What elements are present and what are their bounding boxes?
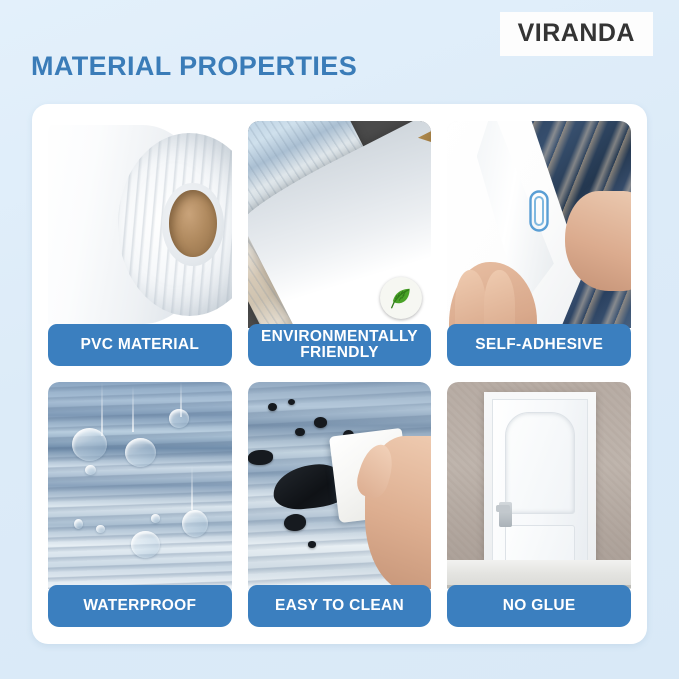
feature-label-pvc-material: PVC MATERIAL [48, 324, 232, 366]
water-drop-7 [74, 519, 83, 529]
brand-name: VIRANDA [518, 21, 635, 46]
stain-dot-3 [314, 417, 327, 427]
water-trail-2 [132, 386, 134, 432]
feature-card-waterproof[interactable]: WATERPROOF [48, 382, 232, 627]
feature-label-environmentally-friendly: ENVIRONMENTALLY FRIENDLY [248, 324, 432, 366]
feature-label-self-adhesive: SELF-ADHESIVE [447, 324, 631, 366]
water-drop-9 [151, 514, 160, 522]
infographic-page: VIRANDA MATERIAL PROPERTIES PVC MATERIAL [0, 0, 679, 679]
stain-dot-6 [308, 541, 315, 547]
water-drop-2 [125, 438, 156, 467]
water-drop-4 [85, 465, 96, 475]
feature-card-pvc-material[interactable]: PVC MATERIAL [48, 121, 232, 366]
left-finger-1 [455, 270, 486, 328]
content-panel: PVC MATERIAL [32, 104, 647, 644]
feature-card-no-glue[interactable]: NO GLUE [447, 382, 631, 627]
feature-card-self-adhesive[interactable]: SELF-ADHESIVE [447, 121, 631, 366]
door-panel-lower [505, 525, 575, 562]
feature-label-waterproof: WATERPROOF [48, 585, 232, 627]
stain-dot-1 [268, 403, 277, 411]
eco-roll-core-corner [418, 129, 432, 156]
pvc-roll-image [48, 121, 232, 328]
feature-label-no-glue: NO GLUE [447, 585, 631, 627]
brand-logo-box: VIRANDA [500, 12, 653, 56]
self-adhesive-image [447, 121, 631, 328]
water-trail-4 [191, 465, 193, 511]
door-handle-lever [496, 505, 510, 512]
water-drop-8 [96, 525, 105, 533]
water-drop-1 [72, 428, 107, 461]
stain-smear-small [284, 514, 306, 531]
waterproof-image [48, 382, 232, 589]
door-leaf [492, 399, 588, 570]
water-trail-1 [101, 382, 103, 436]
paperclip-icon [528, 189, 550, 233]
door-frame [484, 392, 596, 570]
eco-roll-image [248, 121, 432, 328]
feature-card-easy-to-clean[interactable]: EASY TO CLEAN [248, 382, 432, 627]
stain-smear-edge [248, 450, 274, 464]
door-panel-upper [505, 412, 575, 513]
easy-to-clean-image [248, 382, 432, 589]
feature-card-environmentally-friendly[interactable]: ENVIRONMENTALLY FRIENDLY [248, 121, 432, 366]
feature-grid: PVC MATERIAL [48, 121, 631, 627]
leaf-icon [388, 285, 414, 311]
water-drop-6 [131, 531, 160, 558]
water-drop-5 [182, 510, 208, 537]
no-glue-door-image [447, 382, 631, 589]
page-title: MATERIAL PROPERTIES [31, 52, 357, 82]
feature-label-easy-to-clean: EASY TO CLEAN [248, 585, 432, 627]
stain-dot-2 [288, 399, 295, 405]
water-drop-3 [169, 409, 189, 428]
stain-dot-4 [295, 428, 304, 436]
pvc-cardboard-core [169, 190, 216, 257]
